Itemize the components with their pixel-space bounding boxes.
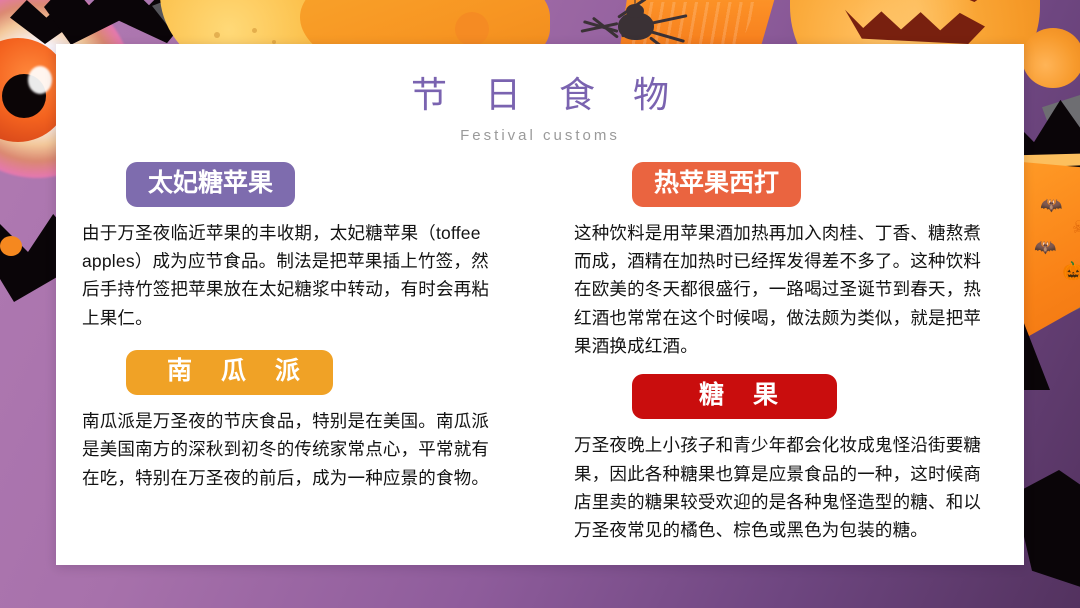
bat-eye-icon	[0, 236, 22, 256]
bat-wing-icon	[1046, 190, 1080, 320]
eyeball-highlight-icon	[28, 66, 52, 94]
bat-glyph-icon: 🦇	[1040, 196, 1062, 214]
spider-leg-icon	[621, 16, 651, 37]
spider-leg-icon	[650, 30, 685, 43]
right-column: 热苹果西打 这种饮料是用苹果酒加热再加入肉桂、丁香、糖熬煮而成，酒精在加热时已经…	[548, 162, 1024, 551]
bat-glyph-icon: 🦇	[1034, 238, 1056, 256]
page-subtitle: Festival customs	[56, 127, 1024, 144]
bat-icon	[10, 0, 80, 44]
section-heading-toffee-apple: 太妃糖苹果	[126, 162, 295, 207]
section-heading-hot-cider: 热苹果西打	[632, 162, 801, 207]
section-body-pumpkin-pie: 南瓜派是万圣夜的节庆食品，特别是在美国。南瓜派是美国南方的深秋到初冬的传统家常点…	[82, 407, 506, 492]
banner-pole-icon	[1018, 152, 1080, 168]
content-card: 节 日 食 物 Festival customs 太妃糖苹果 由于万圣夜临近苹果…	[56, 44, 1024, 565]
spider-leg-icon	[650, 14, 688, 25]
skull-glyph-icon: ☠	[1072, 218, 1080, 236]
page-title: 节 日 食 物	[56, 72, 1024, 117]
section-hot-cider: 热苹果西打 这种饮料是用苹果酒加热再加入肉桂、丁香、糖熬煮而成，酒精在加热时已经…	[574, 162, 998, 360]
bat-wing-icon	[1042, 92, 1080, 168]
section-body-toffee-apple: 由于万圣夜临近苹果的丰收期，太妃糖苹果（toffee apples）成为应节食品…	[82, 219, 506, 332]
section-toffee-apple: 太妃糖苹果 由于万圣夜临近苹果的丰收期，太妃糖苹果（toffee apples）…	[82, 162, 506, 332]
spider-thread-icon	[634, 0, 636, 8]
jack-o-lantern-eye-icon	[938, 0, 990, 2]
title-block: 节 日 食 物 Festival customs	[56, 44, 1024, 144]
content-grid: 太妃糖苹果 由于万圣夜临近苹果的丰收期，太妃糖苹果（toffee apples）…	[56, 162, 1024, 551]
pumpkin-glyph-icon: 🎃	[1062, 262, 1080, 280]
section-pumpkin-pie: 南 瓜 派 南瓜派是万圣夜的节庆食品，特别是在美国。南瓜派是美国南方的深秋到初冬…	[82, 350, 506, 492]
moon-speck-icon	[214, 32, 220, 38]
spider-head-icon	[626, 4, 644, 18]
section-candy: 糖 果 万圣夜晚上小孩子和青少年都会化妆成鬼怪沿街要糖果，因此各种糖果也算是应景…	[574, 374, 998, 544]
eyeball-pupil-icon	[2, 74, 46, 118]
moon-speck-icon	[252, 28, 257, 33]
moon-small-icon	[455, 12, 489, 46]
pumpkin-icon	[1022, 28, 1080, 88]
banner-flag-icon	[1022, 162, 1080, 340]
section-body-hot-cider: 这种饮料是用苹果酒加热再加入肉桂、丁香、糖熬煮而成，酒精在加热时已经挥发得差不多…	[574, 219, 998, 361]
spider-leg-icon	[592, 17, 619, 39]
section-body-candy: 万圣夜晚上小孩子和青少年都会化妆成鬼怪沿街要糖果，因此各种糖果也算是应景食品的一…	[574, 431, 998, 544]
halloween-food-slide: 🦇 ☠ 🦇 🎃 节 日 食 物 Festival customs 太妃糖苹果 由…	[0, 0, 1080, 608]
left-column: 太妃糖苹果 由于万圣夜临近苹果的丰收期，太妃糖苹果（toffee apples）…	[56, 162, 532, 551]
spider-leg-icon	[581, 22, 619, 33]
spider-leg-icon	[617, 0, 647, 19]
section-heading-pumpkin-pie: 南 瓜 派	[126, 350, 333, 395]
section-heading-candy: 糖 果	[632, 374, 837, 419]
spider-leg-icon	[583, 20, 618, 33]
spider-body-icon	[618, 12, 654, 40]
jack-o-lantern-mouth-icon	[845, 6, 985, 44]
